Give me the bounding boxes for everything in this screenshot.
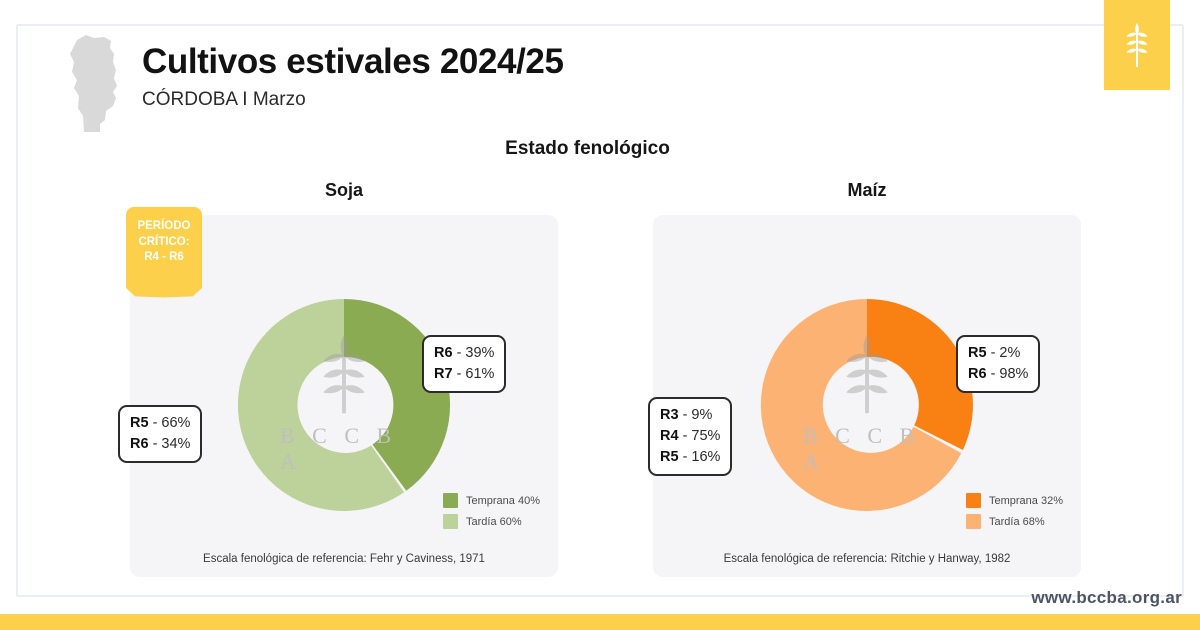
callout-row: R3 - 9% xyxy=(660,405,720,426)
legend-item[interactable]: Tardía 68% xyxy=(966,514,1063,529)
cordoba-province-silhouette-icon xyxy=(64,32,126,136)
wheat-stalk-icon xyxy=(1124,23,1150,67)
callout-row: R5 - 2% xyxy=(968,343,1028,364)
callout-row: R7 - 61% xyxy=(434,364,494,385)
ribbon-line-2: CRÍTICO: xyxy=(138,236,189,248)
bccba-logo-badge xyxy=(1104,0,1170,90)
callout-maiz-temprana: R5 - 2% R6 - 98% xyxy=(956,335,1040,393)
callout-row: R6 - 39% xyxy=(434,343,494,364)
footnote-soja: Escala fenológica de referencia: Fehr y … xyxy=(130,553,558,565)
ribbon-line-3: R4 - R6 xyxy=(144,251,184,263)
page-subtitle: CÓRDOBA I Marzo xyxy=(142,89,564,111)
legend-swatch-temprana xyxy=(443,493,458,508)
chart-panel-soja: PERÍODO CRÍTICO: R4 - R6 xyxy=(130,215,558,577)
legend-maiz: Temprana 32% Tardía 68% xyxy=(966,493,1063,529)
legend-swatch-tardia xyxy=(966,514,981,529)
ribbon-line-1: PERÍODO xyxy=(137,220,190,232)
legend-label: Temprana 40% xyxy=(466,495,540,507)
callout-row: R4 - 75% xyxy=(660,426,720,447)
legend-item[interactable]: Tardía 60% xyxy=(443,514,540,529)
report-header: Cultivos estivales 2024/25 CÓRDOBA I Mar… xyxy=(64,32,564,136)
legend-item[interactable]: Temprana 40% xyxy=(443,493,540,508)
callout-soja-temprana: R6 - 39% R7 - 61% xyxy=(422,335,506,393)
callout-row: R6 - 34% xyxy=(130,434,190,455)
donut-svg-soja xyxy=(228,289,460,521)
chart-title-soja: Soja xyxy=(130,180,558,201)
callout-maiz-tardia: R3 - 9% R4 - 75% R5 - 16% xyxy=(648,397,732,476)
website-url[interactable]: www.bccba.org.ar xyxy=(1031,588,1182,608)
donut-chart-maiz: B C C B A xyxy=(751,289,983,521)
legend-label: Tardía 68% xyxy=(989,516,1045,528)
callout-row: R6 - 98% xyxy=(968,364,1028,385)
donut-chart-soja: B C C B A xyxy=(228,289,460,521)
footer-accent-bar xyxy=(0,614,1200,630)
legend-swatch-tardia xyxy=(443,514,458,529)
legend-item[interactable]: Temprana 32% xyxy=(966,493,1063,508)
page-title: Cultivos estivales 2024/25 xyxy=(142,44,564,81)
legend-swatch-temprana xyxy=(966,493,981,508)
chart-title-maiz: Maíz xyxy=(653,180,1081,201)
donut-svg-maiz xyxy=(751,289,983,521)
legend-label: Temprana 32% xyxy=(989,495,1063,507)
chart-column-soja: Soja PERÍODO CRÍTICO: R4 - R6 xyxy=(130,180,558,577)
chart-column-maiz: Maíz xyxy=(653,180,1081,577)
callout-row: R5 - 16% xyxy=(660,447,720,468)
legend-soja: Temprana 40% Tardía 60% xyxy=(443,493,540,529)
legend-label: Tardía 60% xyxy=(466,516,522,528)
callout-row: R5 - 66% xyxy=(130,413,190,434)
chart-panel-maiz: B C C B A R5 - 2% R6 - 98% R3 - 9% R4 - … xyxy=(653,215,1081,577)
footnote-maiz: Escala fenológica de referencia: Ritchie… xyxy=(653,553,1081,565)
section-title: Estado fenológico xyxy=(0,138,1175,160)
callout-soja-tardia: R5 - 66% R6 - 34% xyxy=(118,405,202,463)
infographic-page: Cultivos estivales 2024/25 CÓRDOBA I Mar… xyxy=(0,0,1200,630)
critical-period-ribbon: PERÍODO CRÍTICO: R4 - R6 xyxy=(126,207,202,274)
